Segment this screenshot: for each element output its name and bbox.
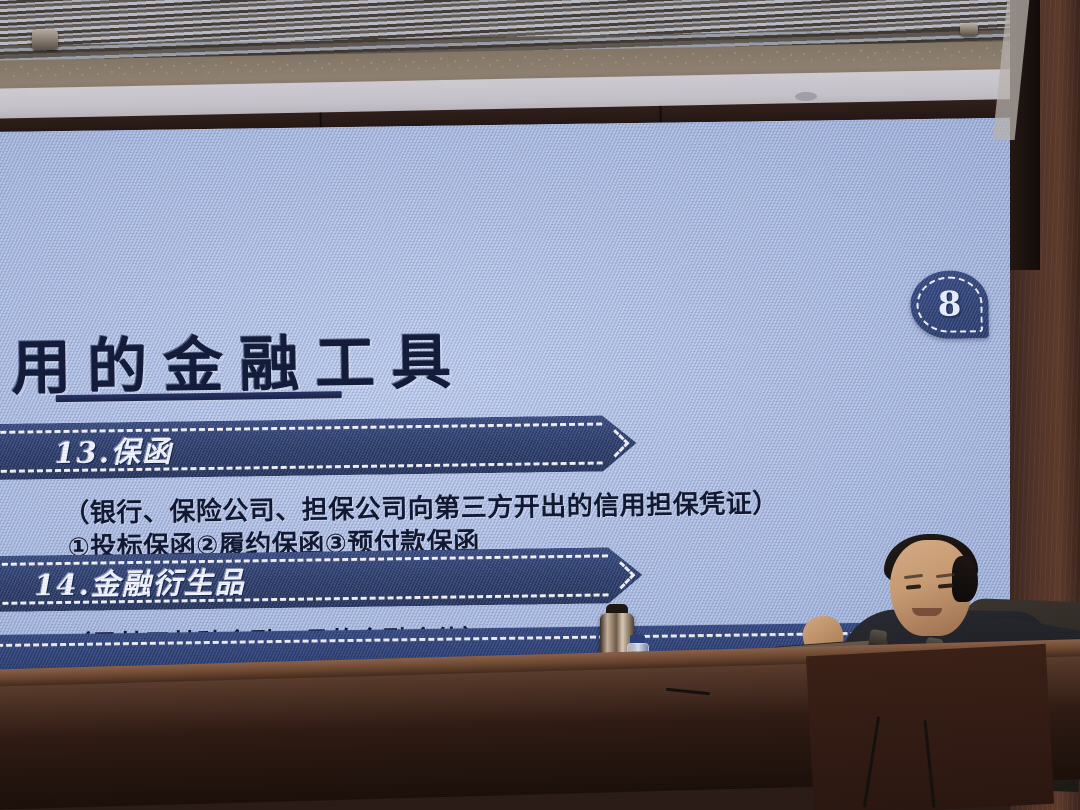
screenshot-root: 常用的金融工具 8 13.保函 （银行、保险公司、担保公司向第三方开出的信用担保… [0,0,1080,810]
section-banner-2: 14.金融衍生品 [0,547,643,612]
presenter-hair-side [952,556,978,602]
section-banner-label-2: 14.金融衍生品 [34,559,246,604]
ceiling-spotlight [32,30,58,50]
presenter-mouth [912,608,942,616]
section-banner-1: 13.保函 [0,415,637,480]
page-number-value: 8 [937,287,961,321]
ceiling-spotlight [960,24,978,36]
section-banner-label-1: 13.保函 [54,428,173,472]
page-number-badge: 8 [910,270,989,339]
